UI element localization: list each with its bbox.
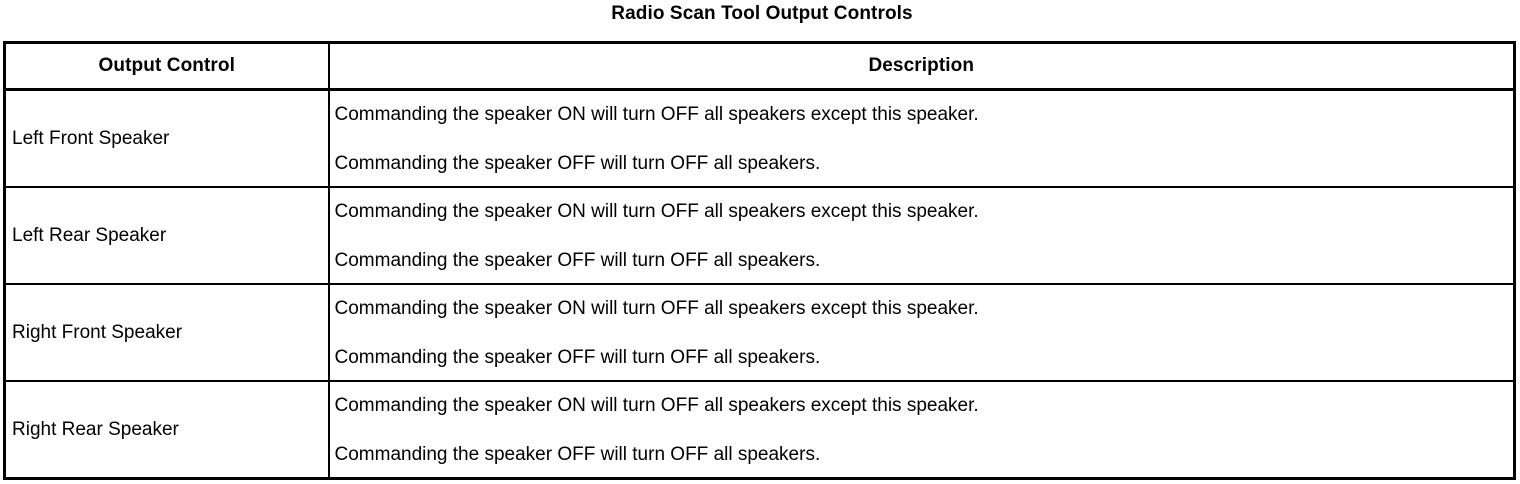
cell-description: Commanding the speaker ON will turn OFF … <box>329 187 1515 284</box>
cell-description: Commanding the speaker ON will turn OFF … <box>329 381 1515 479</box>
description-lines: Commanding the speaker ON will turn OFF … <box>335 394 1510 466</box>
description-spacer <box>335 223 1510 250</box>
output-controls-table-wrapper: Output Control Description Left Front Sp… <box>3 41 1513 480</box>
table-row: Left Rear Speaker Commanding the speaker… <box>5 187 1515 284</box>
description-line-off: Commanding the speaker OFF will turn OFF… <box>335 444 1510 466</box>
description-line-off: Commanding the speaker OFF will turn OFF… <box>335 250 1510 272</box>
cell-output-control: Right Rear Speaker <box>5 381 329 479</box>
cell-description: Commanding the speaker ON will turn OFF … <box>329 284 1515 381</box>
table-header-row: Output Control Description <box>5 43 1515 90</box>
page-root: Radio Scan Tool Output Controls Output C… <box>0 0 1520 484</box>
cell-description: Commanding the speaker ON will turn OFF … <box>329 90 1515 188</box>
description-spacer <box>335 417 1510 444</box>
column-header-output-control: Output Control <box>5 43 329 90</box>
cell-output-control: Right Front Speaker <box>5 284 329 381</box>
description-spacer <box>335 320 1510 347</box>
cell-output-control: Left Rear Speaker <box>5 187 329 284</box>
cell-output-control: Left Front Speaker <box>5 90 329 188</box>
description-line-off: Commanding the speaker OFF will turn OFF… <box>335 153 1510 175</box>
table-row: Right Front Speaker Commanding the speak… <box>5 284 1515 381</box>
description-line-on: Commanding the speaker ON will turn OFF … <box>335 201 1510 223</box>
page-title: Radio Scan Tool Output Controls <box>0 2 1520 26</box>
table-header: Output Control Description <box>5 43 1515 90</box>
description-line-off: Commanding the speaker OFF will turn OFF… <box>335 347 1510 369</box>
description-line-on: Commanding the speaker ON will turn OFF … <box>335 298 1510 320</box>
table-row: Right Rear Speaker Commanding the speake… <box>5 381 1515 479</box>
table-row: Left Front Speaker Commanding the speake… <box>5 90 1515 188</box>
description-lines: Commanding the speaker ON will turn OFF … <box>335 297 1510 369</box>
table-body: Left Front Speaker Commanding the speake… <box>5 90 1515 479</box>
description-line-on: Commanding the speaker ON will turn OFF … <box>335 395 1510 417</box>
description-lines: Commanding the speaker ON will turn OFF … <box>335 103 1510 175</box>
output-controls-table: Output Control Description Left Front Sp… <box>3 41 1516 480</box>
description-line-on: Commanding the speaker ON will turn OFF … <box>335 104 1510 126</box>
description-spacer <box>335 126 1510 153</box>
column-header-description: Description <box>329 43 1515 90</box>
description-lines: Commanding the speaker ON will turn OFF … <box>335 200 1510 272</box>
